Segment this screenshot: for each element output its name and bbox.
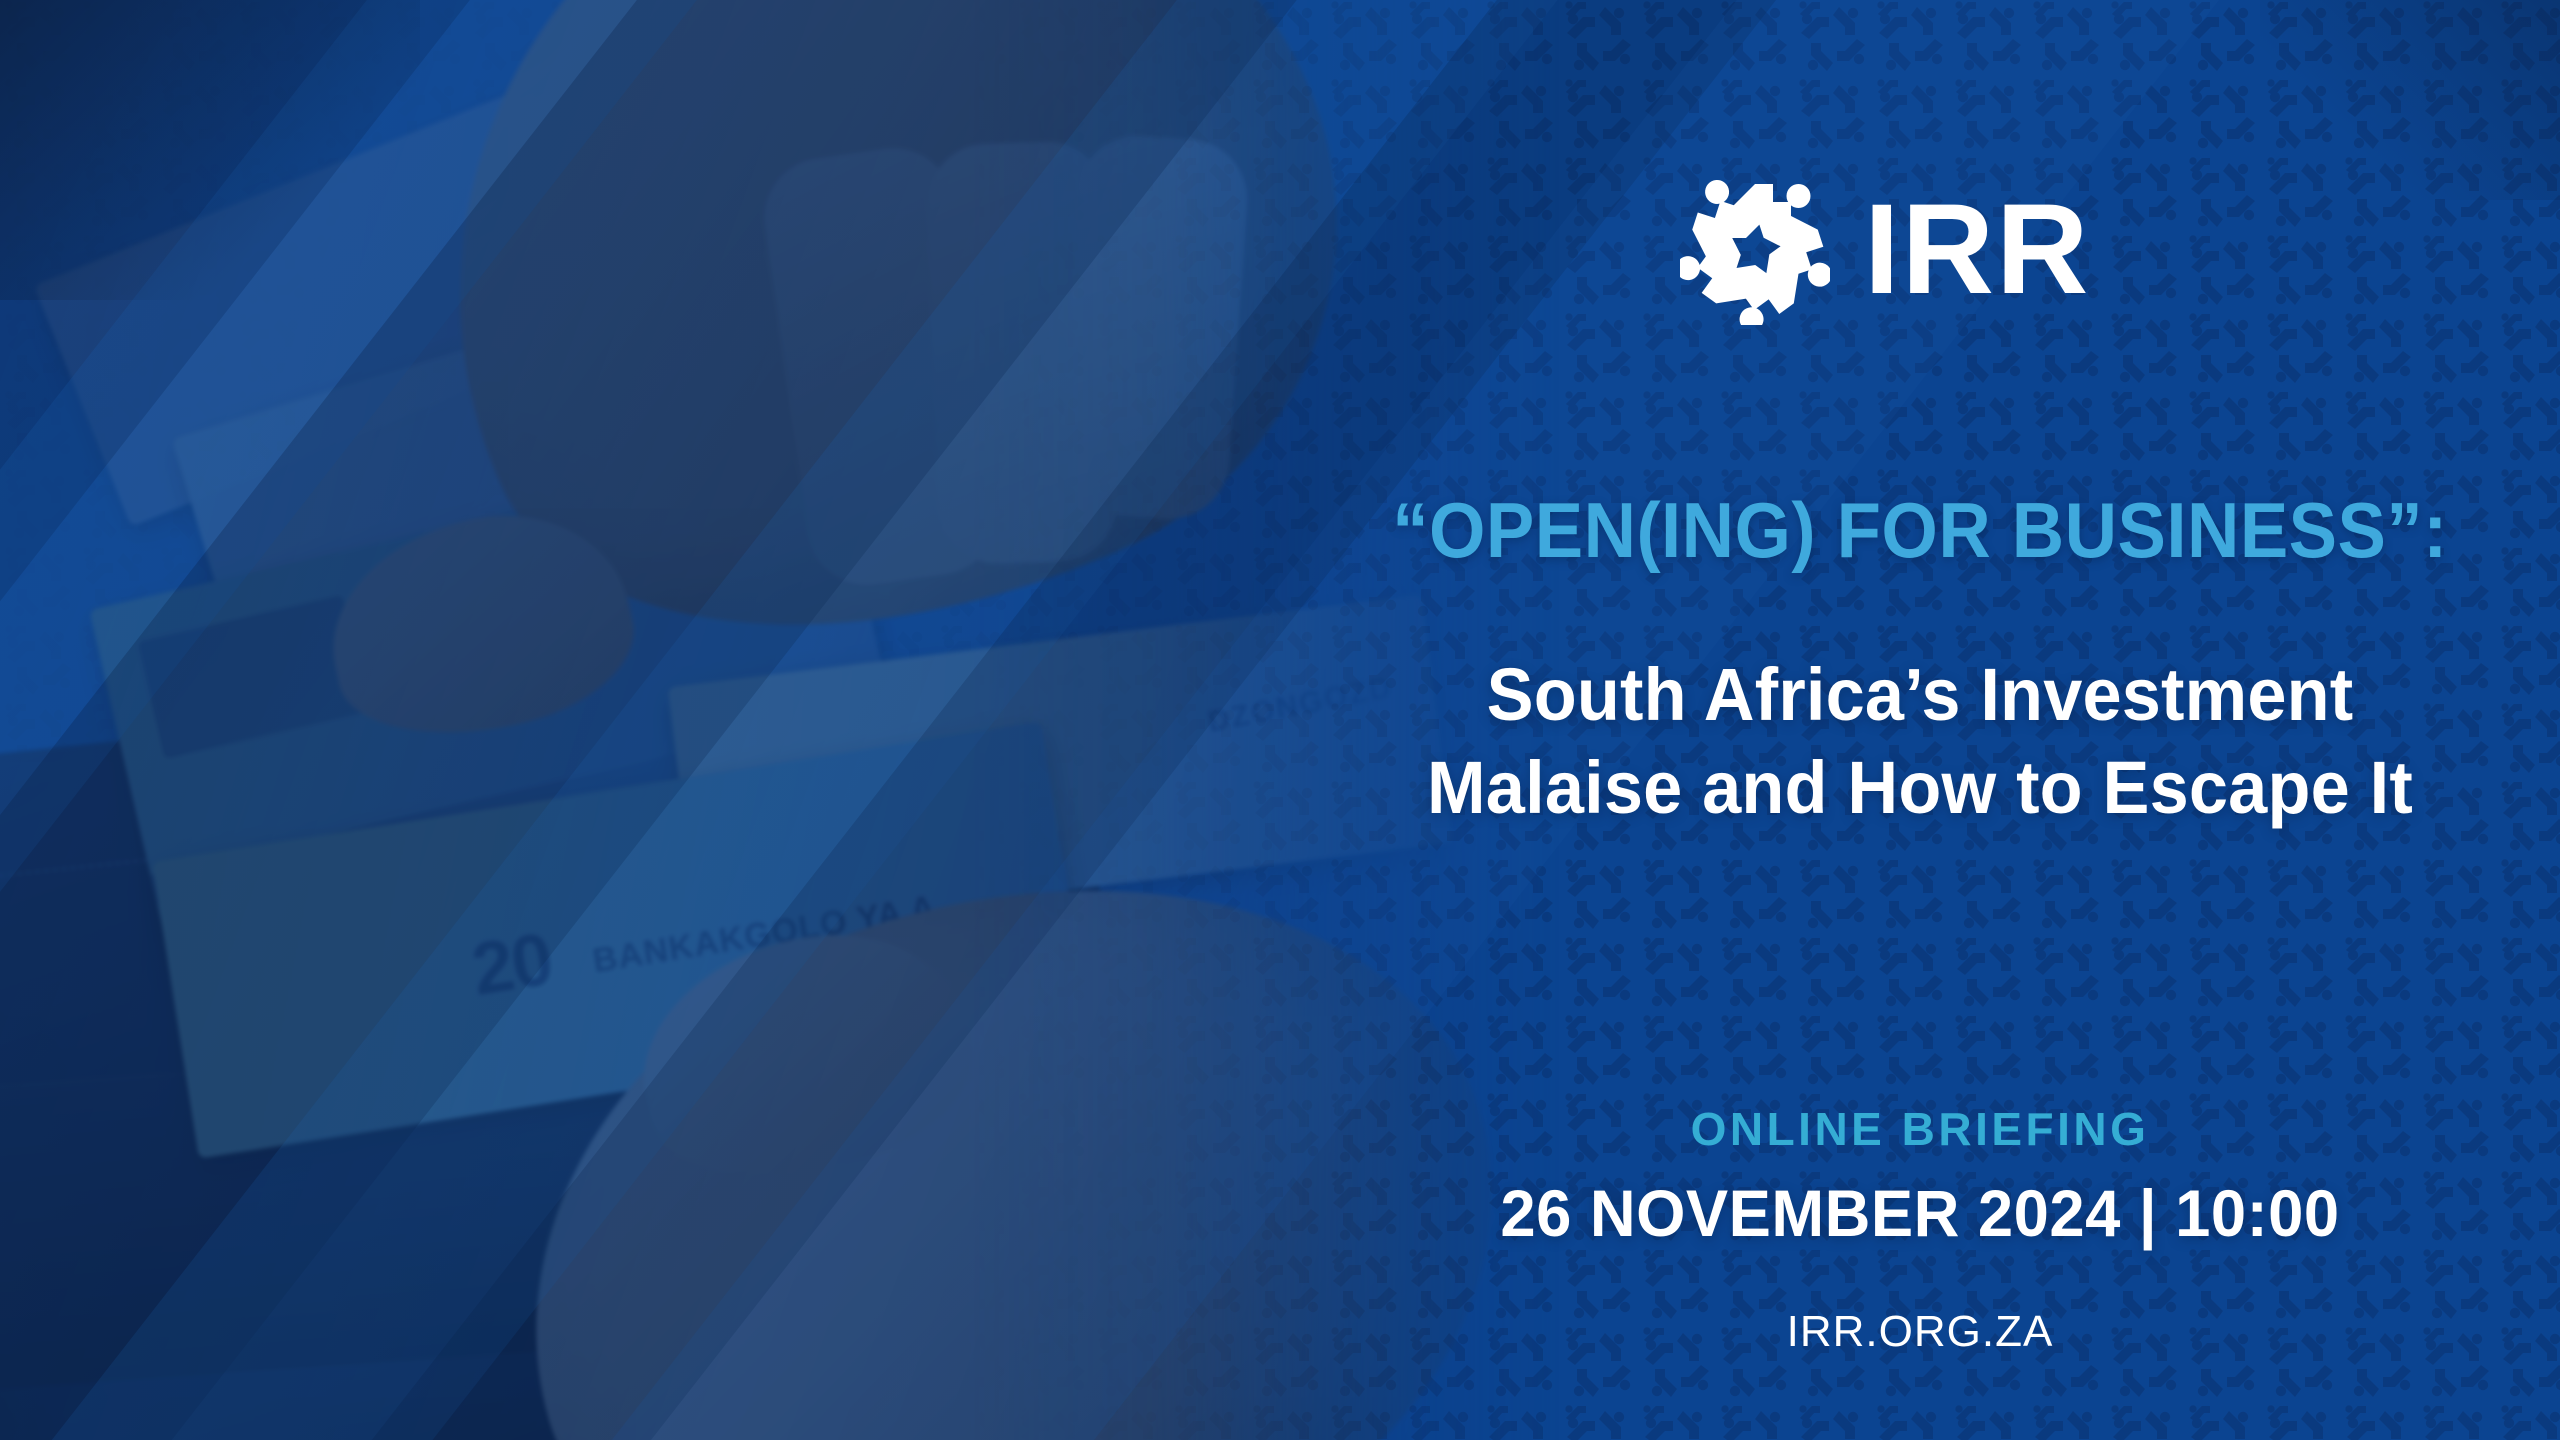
irr-logo[interactable]: IRR (1680, 175, 2090, 325)
subtitle-line-2: Malaise and How to Escape It (1331, 741, 2509, 834)
subtitle-line-1: South Africa’s Investment (1331, 648, 2509, 741)
event-datetime: 26 NOVEMBER 2024 | 10:00 (1325, 1180, 2515, 1246)
content-column: IRR “OPEN(ING) FOR BUSINESS”: South Afri… (1300, 0, 2540, 1440)
website-url[interactable]: IRR.ORG.ZA (1300, 1310, 2540, 1354)
page-title: “OPEN(ING) FOR BUSINESS”: (1343, 488, 2496, 572)
irr-wordmark: IRR (1864, 186, 2090, 314)
page-subtitle: South Africa’s Investment Malaise and Ho… (1331, 648, 2509, 834)
event-kicker: ONLINE BRIEFING (1300, 1106, 2540, 1152)
irr-star-people-logo-icon (1680, 175, 1830, 325)
corner-shade-top-left (0, 0, 420, 300)
promo-banner: DZONGOZD 20 BANKAKGOLO YA A (0, 0, 2560, 1440)
